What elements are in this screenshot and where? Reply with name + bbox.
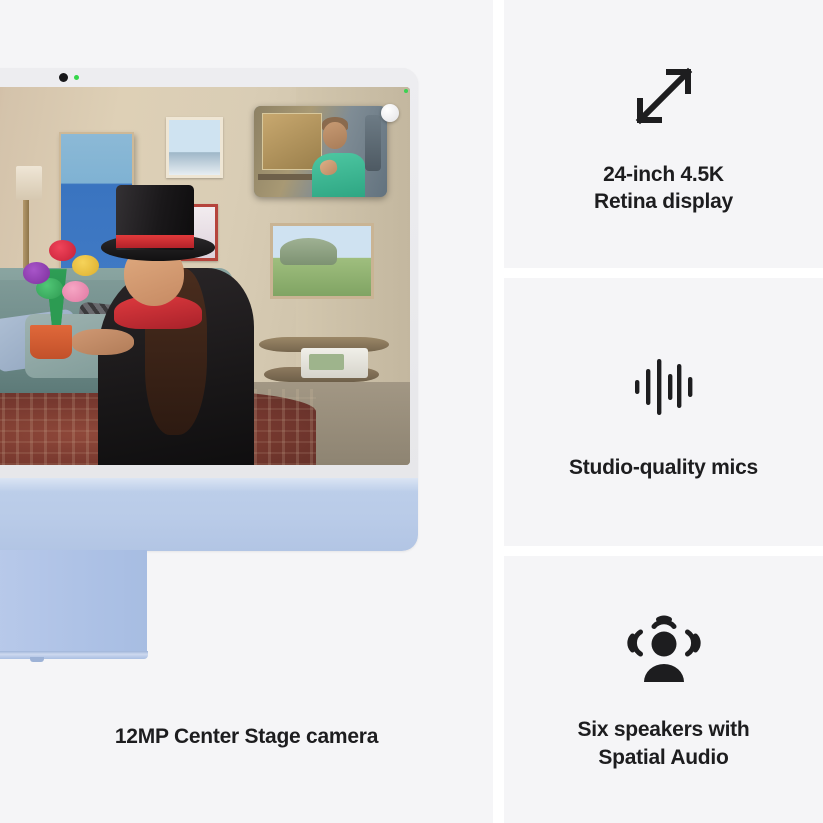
scene-flower bbox=[62, 281, 89, 302]
camera-led-indicator bbox=[74, 75, 79, 80]
imac-body bbox=[0, 68, 418, 551]
audio-waveform-icon bbox=[621, 342, 707, 428]
imac-screen bbox=[0, 87, 410, 465]
camera-dot-icon bbox=[59, 73, 68, 82]
screen-corner-led bbox=[404, 89, 408, 93]
scene-table-lamp bbox=[280, 238, 337, 264]
mics-feature-line1: Studio-quality mics bbox=[569, 454, 758, 481]
display-feature-line1: 24-inch 4.5K bbox=[594, 161, 733, 188]
scene-framed-picture bbox=[166, 117, 223, 177]
imac-stand bbox=[0, 550, 147, 657]
pip-wall-art bbox=[262, 113, 322, 169]
scene-flower bbox=[23, 262, 50, 283]
feature-grid: 12MP Center Stage camera 24-inch 4.5K Re… bbox=[0, 0, 823, 823]
imac-chin bbox=[0, 478, 418, 551]
imac-stand-base bbox=[0, 651, 148, 659]
display-feature-label: 24-inch 4.5K Retina display bbox=[594, 161, 733, 216]
mics-feature-label: Studio-quality mics bbox=[569, 454, 758, 481]
mics-feature-panel: Studio-quality mics bbox=[504, 278, 823, 546]
camera-feature-panel: 12MP Center Stage camera bbox=[0, 0, 493, 823]
camera-feature-caption: 12MP Center Stage camera bbox=[0, 723, 493, 750]
pip-person-body bbox=[312, 153, 365, 197]
speakers-feature-label: Six speakers with Spatial Audio bbox=[577, 716, 749, 771]
speakers-feature-line2: Spatial Audio bbox=[577, 744, 749, 771]
imac-product-image bbox=[0, 68, 418, 551]
scene-girl-arm bbox=[72, 329, 134, 355]
scene-flower-pot bbox=[30, 325, 72, 359]
spatial-audio-person-icon bbox=[621, 608, 707, 694]
center-stage-indicator-icon bbox=[381, 104, 399, 122]
scene-flower bbox=[49, 240, 76, 261]
facetime-scene bbox=[0, 87, 410, 465]
speakers-feature-line1: Six speakers with bbox=[577, 716, 749, 743]
imac-stand-foot bbox=[30, 657, 44, 662]
pip-video-tile[interactable] bbox=[254, 106, 387, 197]
speakers-feature-panel: Six speakers with Spatial Audio bbox=[504, 556, 823, 823]
diagonal-resize-arrows-icon bbox=[621, 53, 707, 139]
scene-radio bbox=[301, 348, 369, 378]
pip-speaker bbox=[365, 115, 381, 171]
scene-flower bbox=[72, 255, 99, 276]
scene-floor-lamp-shade bbox=[16, 166, 42, 200]
display-feature-panel: 24-inch 4.5K Retina display bbox=[504, 0, 823, 268]
scene-top-hat-band bbox=[116, 235, 194, 248]
pip-person-face bbox=[323, 122, 347, 149]
display-feature-line2: Retina display bbox=[594, 188, 733, 215]
